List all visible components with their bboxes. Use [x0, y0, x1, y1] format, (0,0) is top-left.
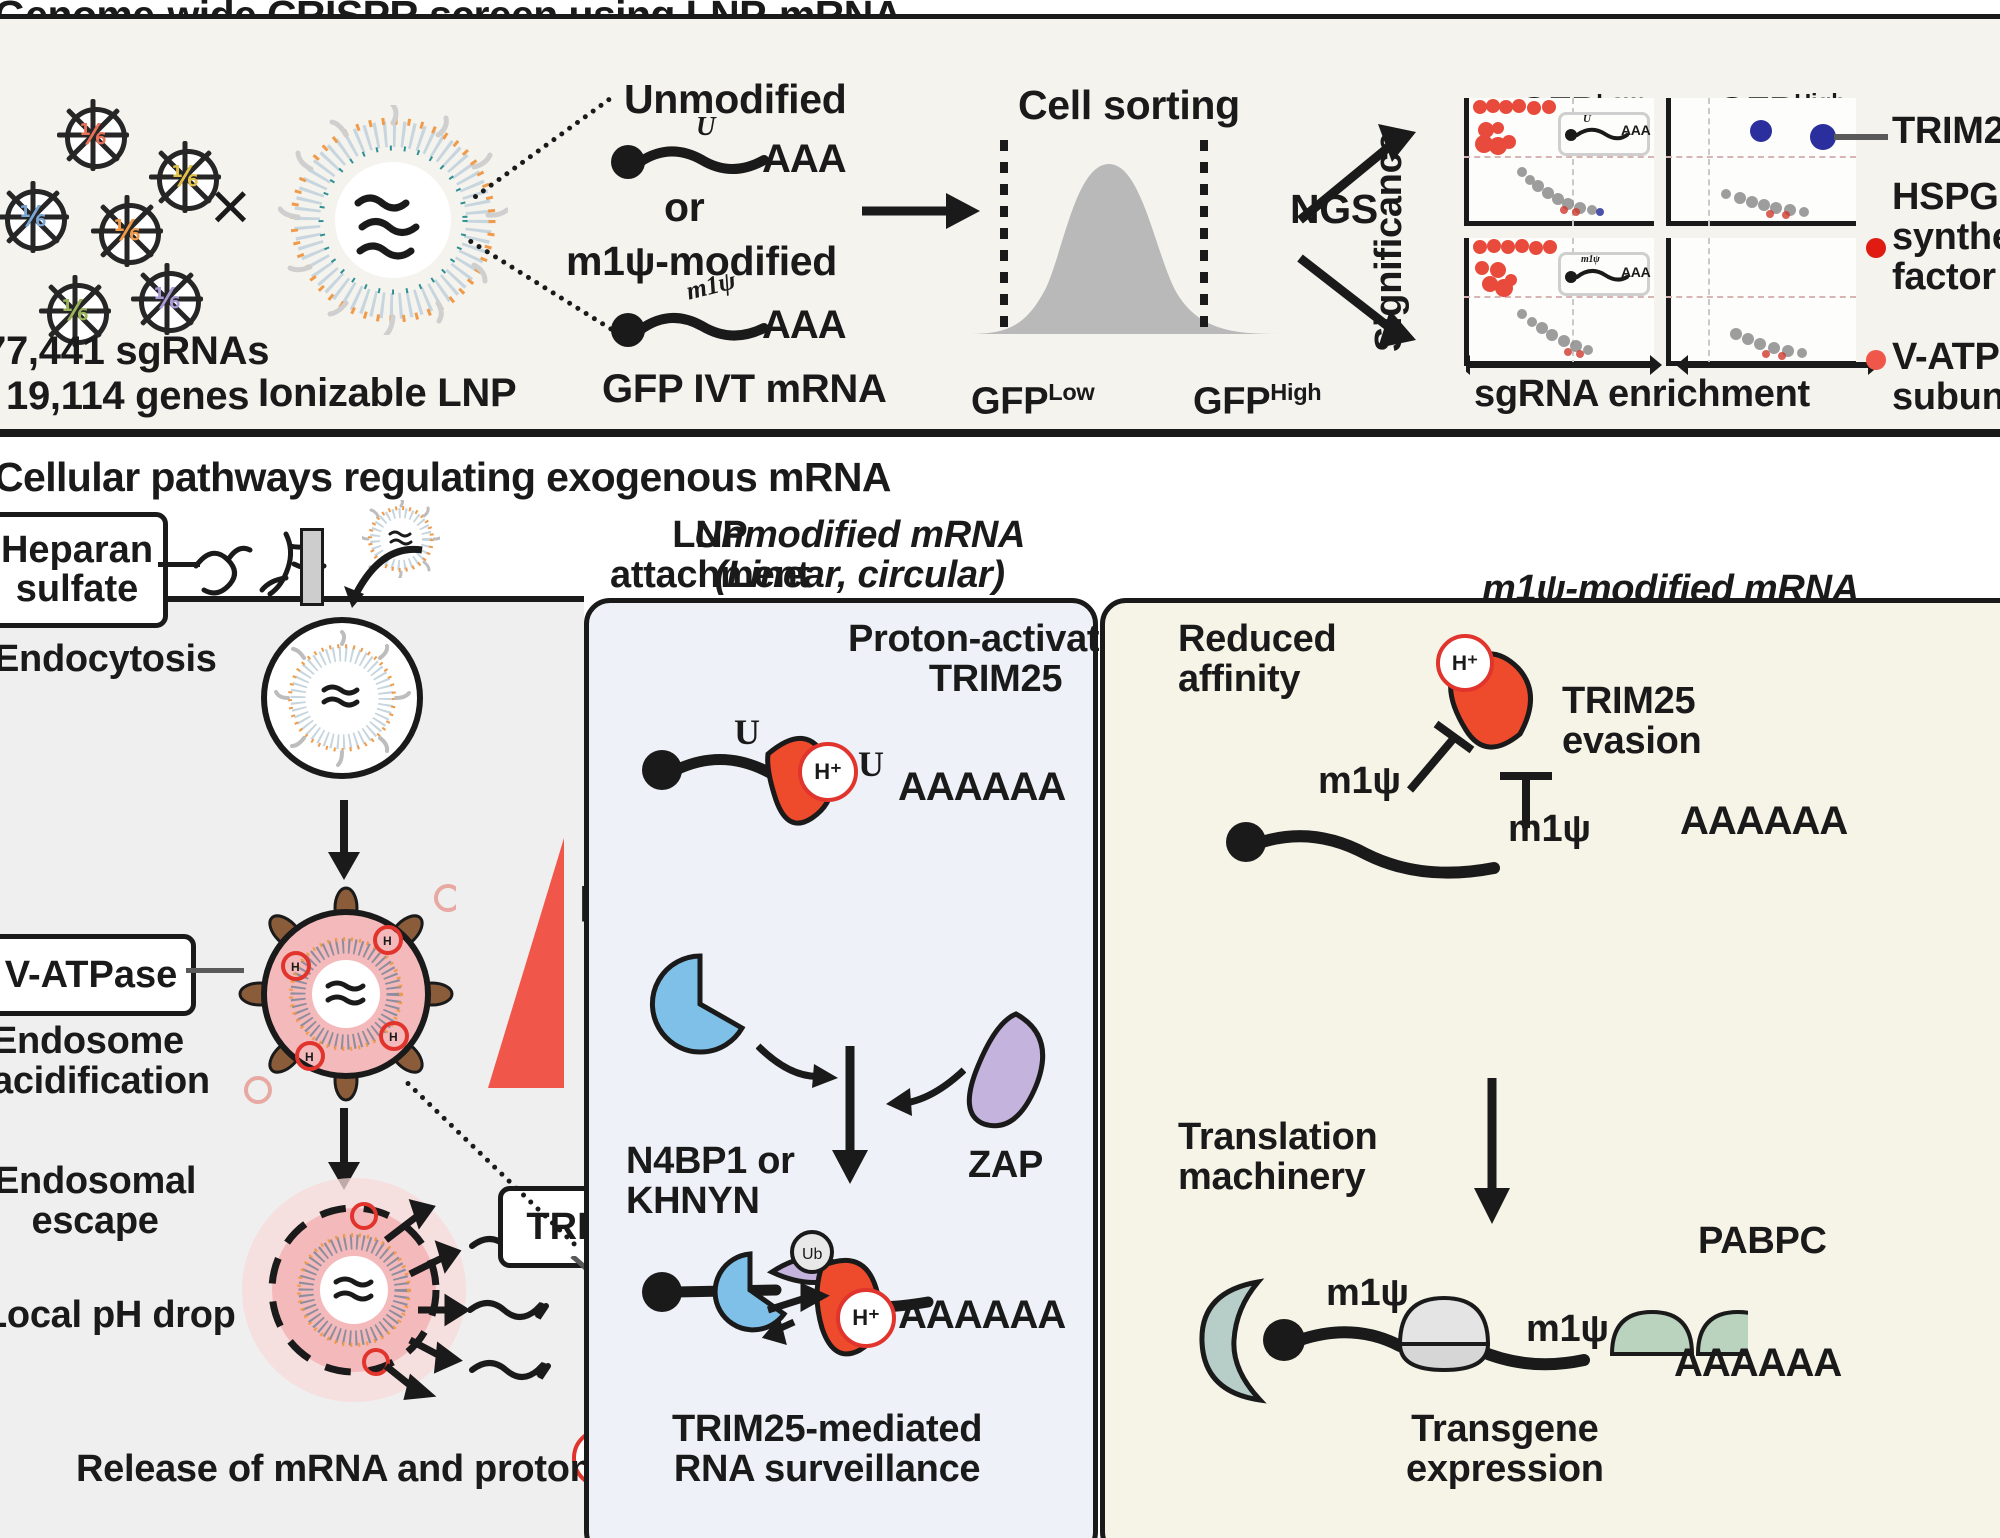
svg-text:H: H	[383, 934, 392, 948]
trim25-highlight-dot	[1750, 120, 1772, 142]
or-label: or	[664, 186, 704, 229]
volcano-plot-high-modified	[1666, 238, 1856, 366]
gfp-ivt-caption: GFP IVT mRNA	[602, 368, 887, 410]
unmodified-base-label: U	[696, 112, 715, 140]
plot-inset-unmodified: U AAA	[1558, 112, 1650, 156]
legend-label-vatpase: V-ATPase subunit	[1892, 338, 2000, 418]
proton-circle-trim25-top: H⁺	[798, 742, 858, 802]
arrow-blue-panel-down	[826, 1046, 872, 1186]
translation-machinery-label: Translation machinery	[1178, 1118, 1377, 1198]
svg-text:H: H	[305, 1050, 314, 1064]
section-separator	[0, 430, 2000, 437]
plots-y-axis-label: Significance	[1370, 132, 1410, 352]
blue-panel-heading: Unmodified mRNA (Linear, circular)	[694, 516, 1025, 596]
translating-mrna	[1188, 1270, 1748, 1430]
cream-panel-caption: Transgene expression	[1406, 1410, 1604, 1490]
blue-panel-caption: TRIM25-mediated RNA surveillance	[672, 1410, 982, 1490]
blue-panel-polya-bottom: AAAAAA	[898, 1294, 1065, 1336]
gate-label-low: GFPLow	[930, 340, 1094, 462]
arrow-cream-panel-down	[1468, 1078, 1514, 1228]
proton-label-blue-bottom: H⁺	[852, 1305, 880, 1331]
gate-label-high: GFPHigh	[1152, 340, 1321, 462]
heparan-sulfate-box: Heparan sulfate	[0, 512, 168, 628]
figure-root: Genome-wide CRISPR screen using LNP-mRNA…	[0, 0, 2000, 1538]
multiply-operator: ×	[210, 170, 251, 244]
ngs-label: NGS	[1290, 188, 1378, 231]
proton-label-blue-top: H⁺	[814, 759, 842, 785]
modified-mrna-strand-top	[1212, 790, 1682, 910]
endosome-acidification-label: Endosome acidification	[0, 1022, 210, 1102]
svg-text:Ub: Ub	[802, 1246, 823, 1263]
plots-x-axis-label: sgRNA enrichment	[1474, 375, 1810, 415]
endocytic-vesicle	[252, 606, 432, 786]
cream-mod-left2-label: m1ψ	[1326, 1274, 1409, 1314]
sgrna-particle: ⅙	[128, 260, 206, 338]
acidified-endosome: HH HH	[236, 884, 456, 1104]
gate-line-low	[1000, 140, 1008, 335]
sgrna-particle: ⅙	[88, 192, 166, 270]
svg-text:H: H	[291, 960, 300, 974]
plot-inset-modified: m1ψ AAA	[1558, 252, 1650, 296]
legend-dot-trim25	[1810, 124, 1836, 150]
n4bp1-khnyn-shape	[646, 950, 756, 1060]
volcano-plot-high-unmodified	[1666, 98, 1856, 226]
zap-shape	[950, 1008, 1060, 1138]
unmodified-polya: AAA	[762, 138, 846, 180]
gate-label-low-sup: Low	[1048, 379, 1094, 405]
sgrna-particle: ⅙	[54, 96, 132, 174]
legend-label-hspg: HSPG synthesis factor	[1892, 178, 2000, 298]
gene-count-label: 19,114 genes	[6, 375, 249, 417]
gate-label-low-text: GFP	[971, 381, 1048, 423]
inset-base-unmodified: U	[1583, 114, 1591, 126]
v-atpase-box: V-ATPase	[0, 934, 196, 1016]
release-caption: Release of mRNA and proton	[76, 1450, 593, 1490]
blue-panel-base-left: U	[734, 714, 760, 752]
proton-gradient-triangle	[468, 838, 578, 1098]
legend-dot-hspg	[1866, 238, 1886, 258]
reduced-affinity-label: Reduced affinity	[1178, 620, 1336, 700]
proton-activated-trim25-label: Proton-activated TRIM25	[848, 620, 1143, 700]
blue-panel-base-right: U	[858, 746, 884, 784]
modified-polya: AAA	[762, 304, 846, 346]
svg-text:H: H	[389, 1030, 398, 1044]
unmodified-label: Unmodified	[624, 78, 846, 121]
ionizable-lnp-illustration	[278, 105, 508, 335]
arrow-zap-curve	[872, 1064, 966, 1134]
pabpc-label: PABPC	[1698, 1222, 1827, 1262]
proton-circle-cream: H⁺	[1436, 634, 1494, 692]
sgrna-particle: ⅙	[0, 178, 72, 256]
inhibition-bar-left	[1406, 716, 1476, 796]
gate-label-high-text: GFP	[1193, 381, 1270, 423]
proton-label-cream: H⁺	[1452, 651, 1478, 676]
cell-sorting-title: Cell sorting	[1018, 84, 1240, 127]
inset-polya-unmodified: AAA	[1621, 123, 1650, 138]
arrow-to-endosome	[322, 800, 366, 882]
escaping-endosome	[234, 1170, 474, 1410]
volcano-plot-low-modified: m1ψ AAA	[1464, 238, 1654, 366]
ionizable-lnp-label: Ionizable LNP	[258, 372, 516, 414]
cream-polya-top: AAAAAA	[1680, 800, 1847, 842]
volcano-plot-low-unmodified: U AAA	[1464, 98, 1654, 226]
sorting-histogram	[968, 138, 1288, 338]
zap-label: ZAP	[968, 1146, 1043, 1186]
inset-polya-modified: AAA	[1621, 265, 1650, 280]
gate-label-high-sup: High	[1270, 379, 1321, 405]
blue-panel-polya-top: AAAAAA	[898, 766, 1065, 808]
proton-circle-trim25-bottom: H⁺	[836, 1288, 896, 1348]
gate-line-high	[1200, 140, 1208, 335]
endosomal-escape-label: Endosomal escape	[0, 1162, 196, 1242]
inset-base-modified: m1ψ	[1581, 255, 1600, 266]
legend-label-trim25: TRIM25	[1892, 112, 2000, 152]
sgrna-count-label: 77,441 sgRNAs	[0, 330, 269, 372]
local-ph-drop-label: Local pH drop	[0, 1296, 236, 1336]
sgrna-library-group: ⅙ ⅙ ⅙	[0, 100, 310, 350]
plot-legend: TRIM25 HSPG synthesis factor V-ATPase su…	[1870, 100, 2000, 400]
cream-mod-right2-label: m1ψ	[1526, 1310, 1609, 1350]
trim25-evasion-label: TRIM25 evasion	[1562, 682, 1701, 762]
arrow-to-sorting	[862, 185, 982, 237]
section-title-pathways: Cellular pathways regulating exogenous m…	[0, 456, 891, 499]
endocytosis-label: Endocytosis	[0, 640, 217, 680]
cream-polya-bottom: AAAAAA	[1674, 1342, 1841, 1384]
legend-leader-line	[1834, 134, 1888, 140]
legend-dot-vatpase	[1866, 350, 1886, 370]
